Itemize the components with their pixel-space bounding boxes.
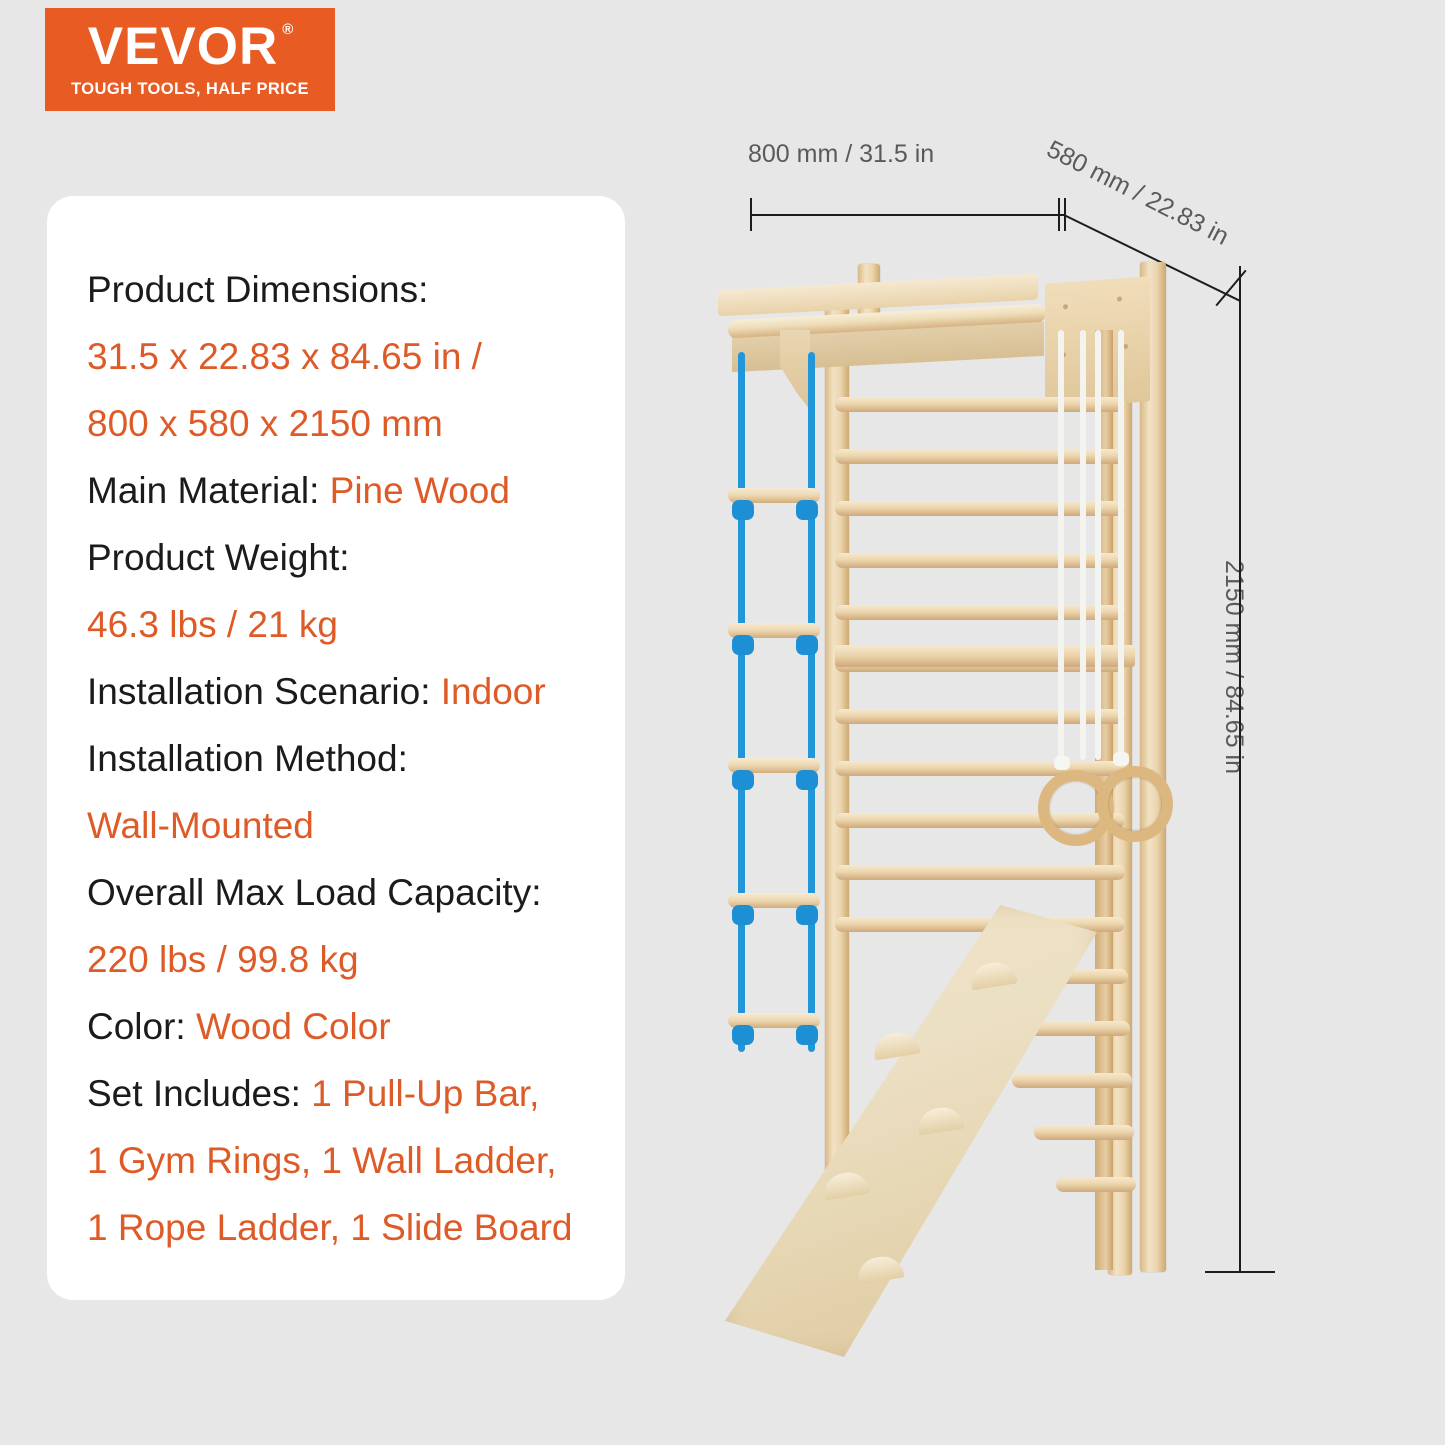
spec-row-installation-method-label: Installation Method: — [87, 725, 587, 792]
gym-ring-knot — [1054, 756, 1070, 770]
gym-ring-knot — [1113, 752, 1129, 766]
spec-value: 1 Gym Rings, 1 Wall Ladder, — [87, 1140, 557, 1181]
spec-row-product-weight-label: Product Weight: — [87, 524, 587, 591]
brand-wordmark: VEVOR® — [88, 20, 293, 73]
brand-tagline: TOUGH TOOLS, HALF PRICE — [71, 80, 309, 99]
spec-row-max-load-value: 220 lbs / 99.8 kg — [87, 926, 587, 993]
gym-ring — [1097, 766, 1173, 842]
gym-ring-rope — [1058, 330, 1064, 760]
specification-card: Product Dimensions: 31.5 x 22.83 x 84.65… — [47, 196, 625, 1300]
spec-label: Product Weight: — [87, 537, 350, 578]
spec-row-product-dimensions-mm: 800 x 580 x 2150 mm — [87, 390, 587, 457]
spec-row-set-includes-3: 1 Rope Ladder, 1 Slide Board — [87, 1194, 587, 1261]
registered-trademark-icon: ® — [282, 22, 294, 37]
screw-icon — [1063, 304, 1068, 309]
slide-board-surface — [725, 905, 1097, 1357]
spec-value: 31.5 x 22.83 x 84.65 in / — [87, 336, 482, 377]
spec-label: Overall Max Load Capacity: — [87, 872, 541, 913]
spec-label: Color: — [87, 1006, 186, 1047]
spec-row-max-load-label: Overall Max Load Capacity: — [87, 859, 587, 926]
spec-label: Product Dimensions: — [87, 269, 428, 310]
rope-knot — [796, 770, 818, 790]
specification-list: Product Dimensions: 31.5 x 22.83 x 84.65… — [87, 256, 587, 1261]
rope-knot — [732, 770, 754, 790]
support-rail-middle — [835, 645, 1135, 667]
spec-row-product-weight-value: 46.3 lbs / 21 kg — [87, 591, 587, 658]
rope-knot — [732, 500, 754, 520]
spec-value: 1 Rope Ladder, 1 Slide Board — [87, 1207, 572, 1248]
spec-value: Indoor — [441, 671, 546, 712]
spec-row-main-material: Main Material: Pine Wood — [87, 457, 587, 524]
spec-value: 46.3 lbs / 21 kg — [87, 604, 338, 645]
spec-label: Installation Scenario: — [87, 671, 430, 712]
spec-row-product-dimensions-in: 31.5 x 22.83 x 84.65 in / — [87, 323, 587, 390]
spec-value: 220 lbs / 99.8 kg — [87, 939, 359, 980]
wooden-gym-frame — [640, 0, 1445, 1445]
gym-ring-rope — [1095, 330, 1101, 760]
spec-row-set-includes-2: 1 Gym Rings, 1 Wall Ladder, — [87, 1127, 587, 1194]
shelf-bracket-left — [780, 330, 810, 410]
spec-value: Wood Color — [196, 1006, 391, 1047]
spec-row-set-includes-1: Set Includes: 1 Pull-Up Bar, — [87, 1060, 587, 1127]
spec-label: Installation Method: — [87, 738, 408, 779]
spec-value: 800 x 580 x 2150 mm — [87, 403, 443, 444]
screw-icon — [1117, 296, 1122, 301]
wall-ladder-rung — [835, 865, 1125, 880]
spec-value: Wall-Mounted — [87, 805, 314, 846]
spec-label: Main Material: — [87, 470, 319, 511]
spec-value: 1 Pull-Up Bar, — [311, 1073, 539, 1114]
product-illustration: 800 mm / 31.5 in 580 mm / 22.83 in 2150 … — [640, 0, 1445, 1445]
rope-knot — [796, 500, 818, 520]
spec-value: Pine Wood — [330, 470, 510, 511]
rope-knot — [796, 635, 818, 655]
spec-row-installation-method-value: Wall-Mounted — [87, 792, 587, 859]
gym-ring-rope — [1080, 330, 1086, 760]
slide-board — [725, 905, 1097, 1357]
spec-row-color: Color: Wood Color — [87, 993, 587, 1060]
gym-ring-rope — [1118, 330, 1124, 760]
vevor-logo: VEVOR® TOUGH TOOLS, HALF PRICE — [45, 8, 335, 111]
rope-knot — [732, 635, 754, 655]
spec-row-product-dimensions-label: Product Dimensions: — [87, 256, 587, 323]
spec-row-installation-scenario: Installation Scenario: Indoor — [87, 658, 587, 725]
spec-label: Set Includes: — [87, 1073, 301, 1114]
